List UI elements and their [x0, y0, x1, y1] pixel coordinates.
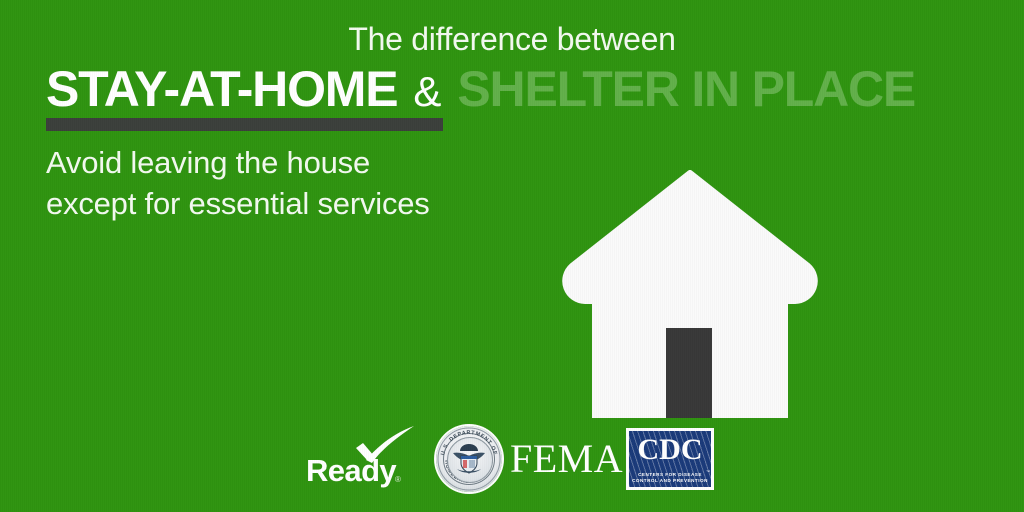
fema-logo[interactable]: U.S. DEPARTMENT OF HOMELAND SECURITY	[436, 424, 606, 494]
cdc-logo[interactable]: CDC ™ CENTERS FOR DISEASE CONTROL AND PR…	[626, 428, 714, 490]
cdc-tagline: CENTERS FOR DISEASE CONTROL AND PREVENTI…	[629, 472, 711, 484]
logo-strip: Ready ® U.S. DEPARTMENT OF	[300, 422, 724, 494]
cdc-wordmark: CDC	[629, 434, 711, 466]
subcopy: Avoid leaving the house except for essen…	[46, 142, 516, 224]
headline-underline-rule	[46, 118, 443, 131]
subcopy-line-1: Avoid leaving the house	[46, 142, 516, 183]
ready-trademark: ®	[395, 476, 401, 484]
cdc-tagline-line-2: CONTROL AND PREVENTION	[629, 478, 711, 484]
ready-wordmark: Ready	[306, 454, 396, 488]
house-icon	[556, 170, 824, 420]
headline-term-active: STAY-AT-HOME	[46, 64, 397, 114]
dhs-seal-icon: U.S. DEPARTMENT OF HOMELAND SECURITY	[436, 426, 502, 492]
headline-conjunction: &	[413, 67, 441, 117]
ready-logo[interactable]: Ready ®	[300, 424, 416, 490]
headline-term-muted: SHELTER IN PLACE	[457, 64, 915, 114]
headline-kicker: The difference between	[0, 20, 1024, 58]
fema-wordmark: FEMA	[510, 438, 623, 480]
headline: STAY-AT-HOME & SHELTER IN PLACE	[46, 64, 1014, 122]
subcopy-line-2: except for essential services	[46, 183, 516, 224]
public-health-poster: The difference between STAY-AT-HOME & SH…	[0, 0, 1024, 512]
